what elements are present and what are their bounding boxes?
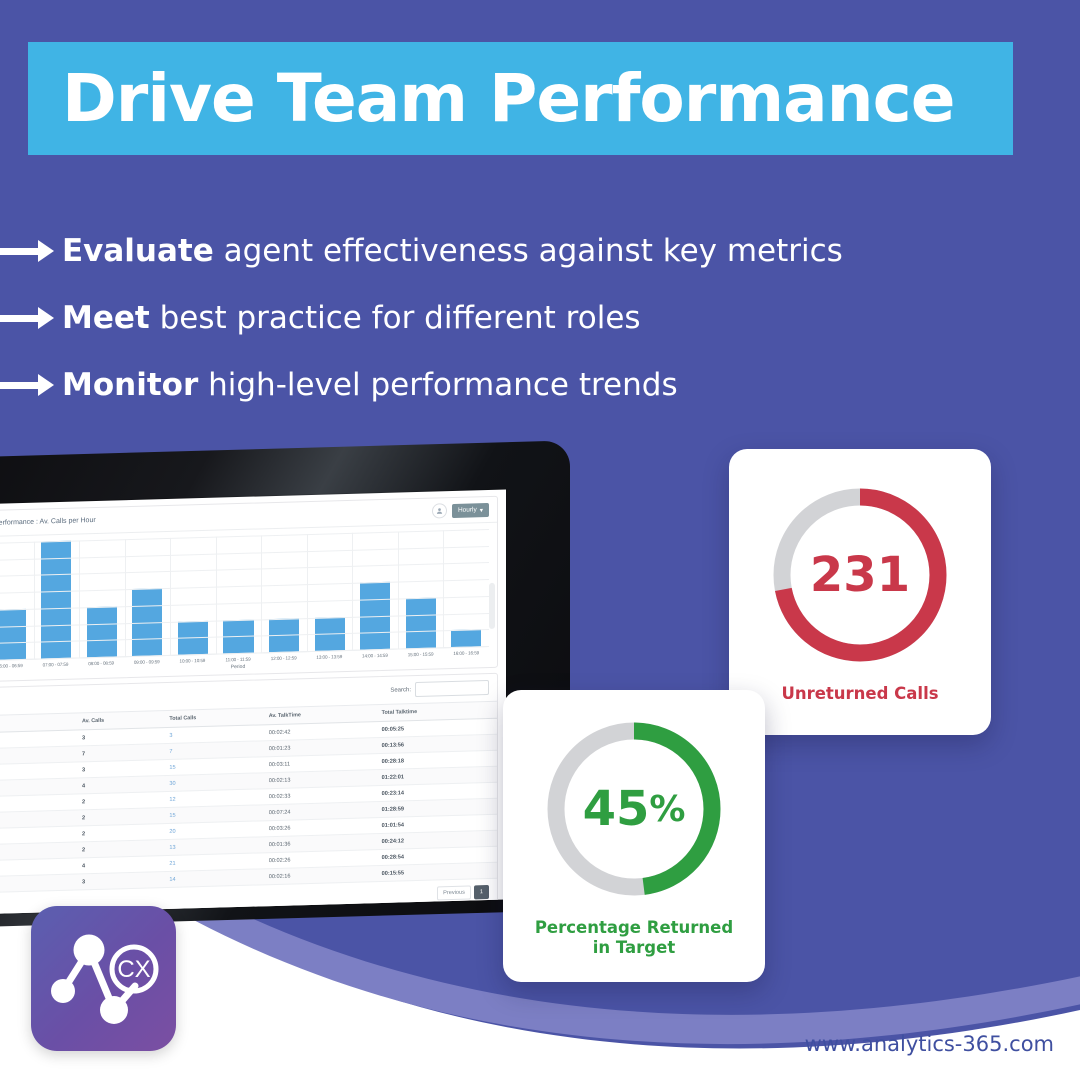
logo-node-left <box>51 979 75 1003</box>
bar[interactable] <box>451 630 481 648</box>
x-tick-label: 11:00 - 11:59 <box>215 653 261 662</box>
logo-node-bottom <box>100 996 128 1024</box>
chart-plot-area: Av. Calls 01234567 06:00 - 06:5907:00 - … <box>0 523 497 682</box>
laptop-mockup: Call Performance : Av. Calls per Hour Ho… <box>0 458 570 928</box>
bullet-item: Monitor high-level performance trends <box>0 352 1000 418</box>
analytics-365-cx-logo: CX <box>31 906 176 1051</box>
bar[interactable] <box>0 609 26 660</box>
vertical-gridline <box>79 540 80 657</box>
page-title: Drive Team Performance <box>28 66 955 132</box>
bullet-keyword: Evaluate <box>62 233 214 269</box>
bullet-rest: best practice for different roles <box>150 300 641 336</box>
vertical-gridline <box>398 532 399 649</box>
bar[interactable] <box>87 606 117 657</box>
user-glyph <box>436 507 443 514</box>
bullet-item: Evaluate agent effectiveness against key… <box>0 218 1000 284</box>
bullet-list: Evaluate agent effectiveness against key… <box>0 218 1000 419</box>
performance-table: PeriodAv. CallsTotal CallsAv. TalkTimeTo… <box>0 701 497 894</box>
x-tick-label: 09:00 - 09:59 <box>124 656 170 665</box>
chevron-down-icon: ▾ <box>480 506 483 514</box>
period-dropdown-button[interactable]: Hourly ▾ <box>452 503 489 518</box>
laptop-screen: Call Performance : Av. Calls per Hour Ho… <box>0 490 506 915</box>
percentage-returned-donut: 45% <box>539 714 729 904</box>
vertical-gridline <box>216 537 217 654</box>
chart-card: Call Performance : Av. Calls per Hour Ho… <box>0 496 498 683</box>
percentage-returned-number: 45 <box>583 781 650 837</box>
bullet-rest: high-level performance trends <box>198 367 677 403</box>
logo-node-top <box>74 935 105 966</box>
search-input[interactable] <box>415 680 489 697</box>
vertical-gridline <box>261 535 262 652</box>
title-banner: Drive Team Performance <box>28 42 1013 155</box>
chart-scrollbar[interactable] <box>489 583 495 629</box>
page-1-button[interactable]: 1 <box>474 885 489 899</box>
x-tick-label: 12:00 - 12:59 <box>261 652 307 661</box>
percentage-returned-label: Percentage Returned in Target <box>535 918 733 958</box>
x-tick-label: 06:00 - 06:59 <box>0 660 33 669</box>
table-cell: 3 <box>76 872 163 890</box>
percentage-returned-label-line2: in Target <box>535 938 733 958</box>
bullet-keyword: Meet <box>62 300 150 336</box>
x-tick-label: 15:00 - 15:59 <box>398 648 444 657</box>
previous-page-button[interactable]: Previous <box>437 886 471 901</box>
logo-cx-text: CX <box>117 956 150 983</box>
x-tick-label: 14:00 - 14:59 <box>352 650 398 659</box>
vertical-gridline <box>307 534 308 651</box>
bullet-item: Meet best practice for different roles <box>0 285 1000 351</box>
chart-title: Call Performance : Av. Calls per Hour <box>0 517 96 527</box>
bar-plot <box>0 529 489 661</box>
bullet-text: Monitor high-level performance trends <box>62 368 678 402</box>
x-tick-label: 13:00 - 13:59 <box>306 651 352 660</box>
x-tick-label: 10:00 - 10:59 <box>170 655 216 664</box>
vertical-gridline <box>443 530 444 647</box>
x-tick-label: 07:00 - 07:59 <box>33 658 79 667</box>
period-dropdown-label: Hourly <box>458 506 477 514</box>
bullet-text: Meet best practice for different roles <box>62 301 641 335</box>
unreturned-calls-label: Unreturned Calls <box>781 684 938 704</box>
arrow-right-icon <box>0 301 62 335</box>
data-table-card: Search: PeriodAv. CallsTotal CallsAv. Ta… <box>0 673 498 915</box>
search-label: Search: <box>390 687 411 694</box>
vertical-gridline <box>170 538 171 655</box>
percentage-returned-label-line1: Percentage Returned <box>535 918 733 938</box>
website-url: www.analytics-365.com <box>805 1032 1054 1056</box>
bullet-text: Evaluate agent effectiveness against key… <box>62 234 843 268</box>
unreturned-calls-card: 231 Unreturned Calls <box>729 449 991 735</box>
percentage-returned-value: 45% <box>539 714 729 904</box>
chart-card-title-group: Call Performance : Av. Calls per Hour <box>0 517 96 528</box>
vertical-gridline <box>352 533 353 650</box>
percent-sign: % <box>649 789 685 830</box>
unreturned-calls-donut: 231 <box>765 480 955 670</box>
poster-canvas: Drive Team Performance Evaluate agent ef… <box>0 0 1080 1080</box>
vertical-gridline <box>34 542 35 659</box>
bullet-rest: agent effectiveness against key metrics <box>214 233 843 269</box>
logo-graphic: CX <box>31 906 176 1051</box>
unreturned-calls-value: 231 <box>765 480 955 670</box>
chart-card-actions: Hourly ▾ <box>432 502 489 519</box>
table-body: 06:00 - 06:593300:02:4200:05:2507:00 - 0… <box>0 718 497 893</box>
x-tick-label: 08:00 - 08:59 <box>78 657 124 666</box>
bullet-keyword: Monitor <box>62 367 198 403</box>
percentage-returned-card: 45% Percentage Returned in Target <box>503 690 765 982</box>
vertical-gridline <box>125 539 126 656</box>
arrow-right-icon <box>0 368 62 402</box>
arrow-right-icon <box>0 234 62 268</box>
bar[interactable] <box>406 597 436 648</box>
x-tick-label: 16:00 - 16:59 <box>443 647 489 656</box>
user-icon[interactable] <box>432 503 447 518</box>
